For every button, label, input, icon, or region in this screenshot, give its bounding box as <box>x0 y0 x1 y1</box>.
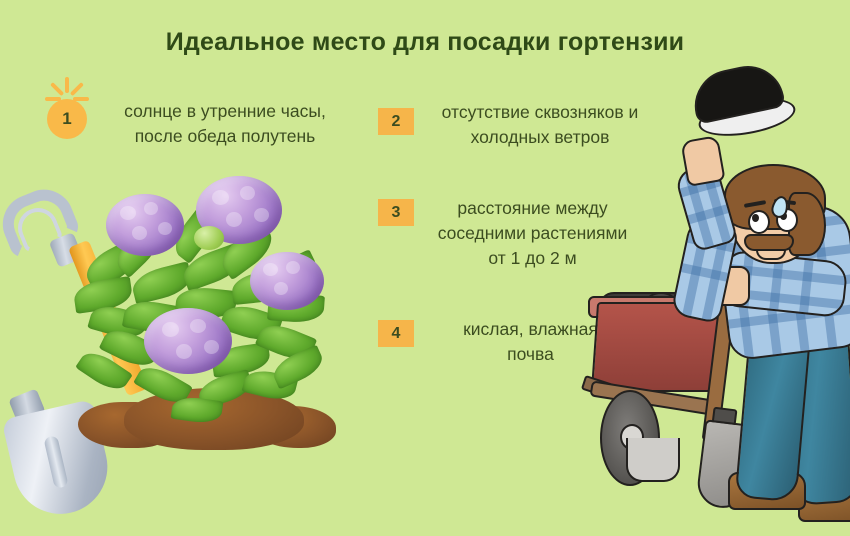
item-1-line-1: солнце в утренние часы, <box>100 99 350 124</box>
wheelbarrow-strut <box>626 438 680 482</box>
page-title: Идеальное место для посадки гортензии <box>0 28 850 57</box>
sun-icon: 1 <box>24 76 110 162</box>
infographic-canvas: Идеальное место для посадки гортензии 1 … <box>0 0 850 536</box>
hydrangea-bush-illustration <box>72 176 332 466</box>
item-number-1: 1 <box>47 99 87 139</box>
hydrangea-flower <box>106 194 184 256</box>
hydrangea-flower <box>250 252 324 310</box>
item-number-badge-2: 2 <box>378 108 414 135</box>
hand <box>680 135 725 187</box>
mustache <box>744 234 794 251</box>
pupil <box>752 214 759 222</box>
eye <box>748 210 770 234</box>
hydrangea-bud <box>194 226 224 250</box>
item-1-line-2: после обеда полутень <box>100 124 350 149</box>
gardener-illustration <box>572 60 850 500</box>
item-number-badge-4: 4 <box>378 320 414 347</box>
item-1-text: солнце в утренние часы, после обеда полу… <box>100 99 350 149</box>
hydrangea-flower <box>144 308 232 374</box>
